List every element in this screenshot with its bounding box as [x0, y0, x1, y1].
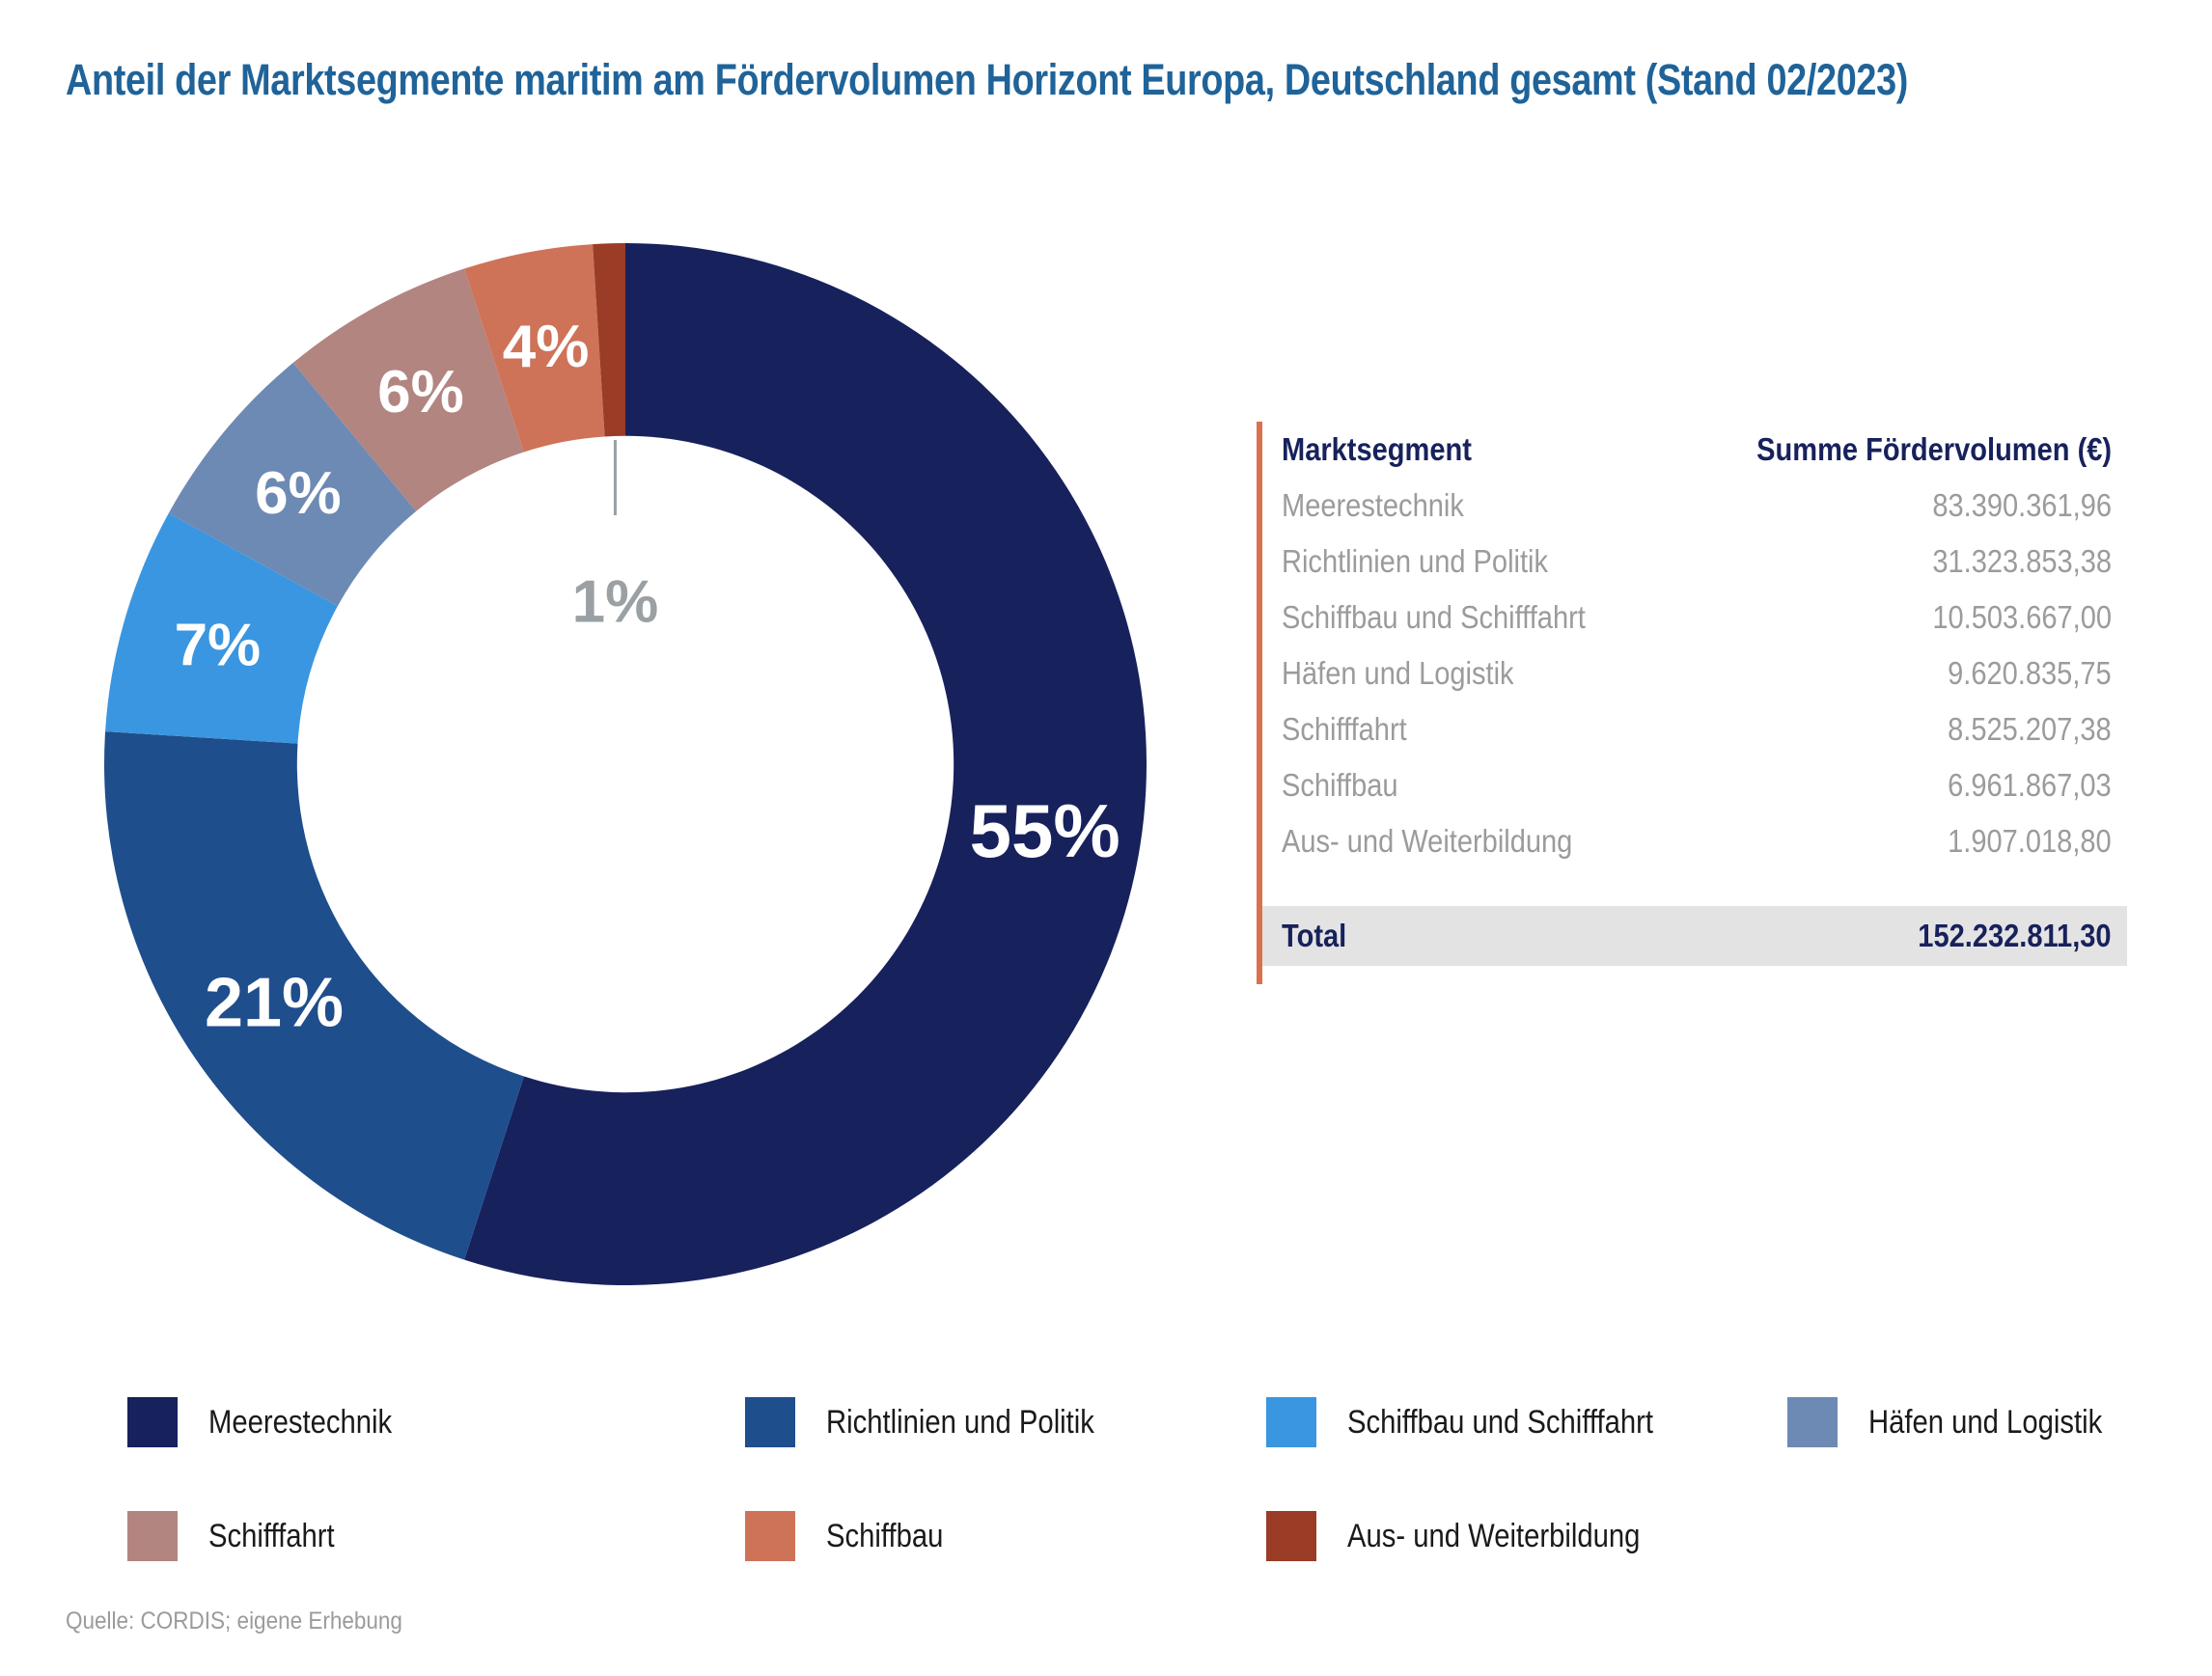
legend-label: Meerestechnik: [208, 1404, 392, 1442]
source-note: Quelle: CORDIS; eigene Erhebung: [66, 1607, 402, 1635]
legend-row: MeerestechnikRichtlinien und PolitikSchi…: [127, 1365, 2154, 1479]
legend-swatch: [127, 1511, 178, 1561]
row-segment-name: Richtlinien und Politik: [1282, 534, 1548, 590]
table-header-segment: Marktsegment: [1282, 422, 1472, 478]
legend-item[interactable]: Richtlinien und Politik: [745, 1365, 1266, 1479]
legend-swatch: [745, 1511, 795, 1561]
legend-item[interactable]: Schifffahrt: [127, 1479, 745, 1593]
slice-value-label: 4%: [503, 314, 590, 380]
slice-value-label: 6%: [377, 359, 464, 426]
legend-item[interactable]: Schiffbau: [745, 1479, 1266, 1593]
table-total-row: Total 152.232.811,30: [1262, 906, 2127, 966]
legend-item[interactable]: Meerestechnik: [127, 1365, 745, 1479]
slice-value-label: 7%: [175, 613, 262, 679]
legend-row: SchifffahrtSchiffbauAus- und Weiterbildu…: [127, 1479, 2154, 1593]
row-segment-value: 6.961.867,03: [1948, 757, 2112, 813]
legend-label: Richtlinien und Politik: [826, 1404, 1094, 1442]
table-row: Schiffbau und Schifffahrt10.503.667,00: [1262, 590, 2127, 646]
table-row: Schiffbau6.961.867,03: [1262, 757, 2127, 813]
table-row: Aus- und Weiterbildung1.907.018,80: [1262, 813, 2127, 869]
legend-item[interactable]: Häfen und Logistik: [1787, 1365, 2154, 1479]
row-segment-name: Aus- und Weiterbildung: [1282, 813, 1572, 869]
legend-swatch: [1787, 1397, 1838, 1447]
row-segment-value: 10.503.667,00: [1932, 590, 2112, 646]
row-segment-value: 8.525.207,38: [1948, 701, 2112, 757]
slice-value-label: 21%: [205, 964, 344, 1041]
row-segment-value: 31.323.853,38: [1932, 534, 2112, 590]
slice-value-label: 55%: [970, 788, 1120, 873]
table-row: Häfen und Logistik9.620.835,75: [1262, 646, 2127, 701]
donut-slices: [104, 243, 1147, 1285]
page-title: Anteil der Marktsegmente maritim am Förd…: [66, 55, 1816, 105]
legend-item[interactable]: Aus- und Weiterbildung: [1266, 1479, 1787, 1593]
row-segment-name: Schiffbau und Schifffahrt: [1282, 590, 1586, 646]
row-segment-name: Häfen und Logistik: [1282, 646, 1514, 701]
legend-swatch: [1266, 1511, 1316, 1561]
slice-value-label: 6%: [255, 460, 342, 527]
row-segment-value: 1.907.018,80: [1948, 813, 2112, 869]
legend-label: Schiffbau und Schifffahrt: [1347, 1404, 1653, 1442]
donut-chart-svg: 55%21%7%6%6%4%1%: [104, 243, 1147, 1285]
table-row: Schifffahrt8.525.207,38: [1262, 701, 2127, 757]
row-segment-name: Schiffbau: [1282, 757, 1398, 813]
slice-value-label: 1%: [572, 568, 659, 635]
legend-label: Schifffahrt: [208, 1518, 335, 1555]
row-segment-value: 83.390.361,96: [1932, 478, 2112, 534]
legend-label: Schiffbau: [826, 1518, 943, 1555]
row-segment-name: Schifffahrt: [1282, 701, 1407, 757]
table-row: Meerestechnik83.390.361,96: [1262, 478, 2127, 534]
total-label: Total: [1282, 906, 1346, 966]
legend: MeerestechnikRichtlinien und PolitikSchi…: [127, 1365, 2154, 1593]
row-segment-value: 9.620.835,75: [1948, 646, 2112, 701]
table-header-row: Marktsegment Summe Fördervolumen (€): [1262, 422, 2127, 478]
row-segment-name: Meerestechnik: [1282, 478, 1464, 534]
total-value: 152.232.811,30: [1919, 906, 2112, 966]
legend-label: Häfen und Logistik: [1868, 1404, 2102, 1442]
legend-label: Aus- und Weiterbildung: [1347, 1518, 1640, 1555]
table-row: Richtlinien und Politik31.323.853,38: [1262, 534, 2127, 590]
legend-item[interactable]: Schiffbau und Schifffahrt: [1266, 1365, 1787, 1479]
donut-chart: 55%21%7%6%6%4%1%: [104, 243, 1147, 1285]
legend-swatch: [745, 1397, 795, 1447]
table-header-value: Summe Fördervolumen (€): [1756, 422, 2112, 478]
legend-swatch: [1266, 1397, 1316, 1447]
table-body: Meerestechnik83.390.361,96Richtlinien un…: [1262, 478, 2127, 869]
legend-swatch: [127, 1397, 178, 1447]
table-total-spacer: [1262, 869, 2127, 906]
